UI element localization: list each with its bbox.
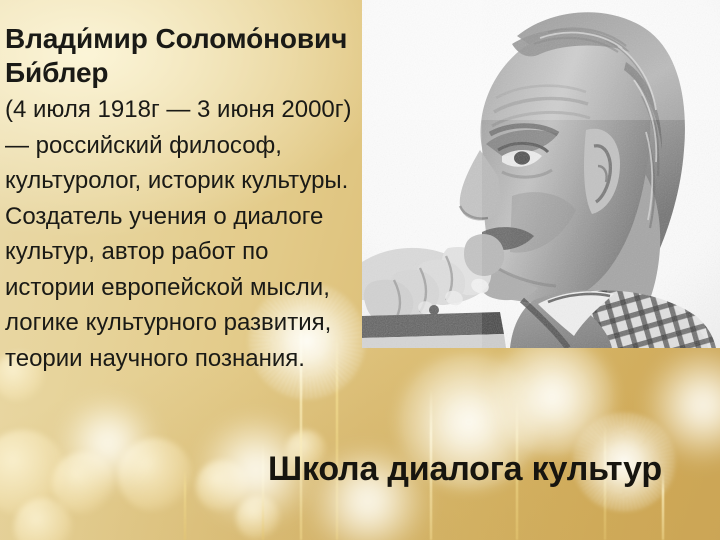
slide-heading: Школа диалога культур — [268, 448, 698, 490]
biography-text: (4 июля 1918г — 3 июня 2000г) — российск… — [5, 92, 357, 376]
portrait-photo-image — [362, 0, 720, 348]
portrait-photo — [362, 0, 720, 348]
person-name: Влади́мир Соломо́нович Би́блер — [5, 22, 357, 90]
presentation-slide: Влади́мир Соломо́нович Би́блер (4 июля 1… — [0, 0, 720, 540]
biography-block: Влади́мир Соломо́нович Би́блер (4 июля 1… — [5, 22, 357, 376]
